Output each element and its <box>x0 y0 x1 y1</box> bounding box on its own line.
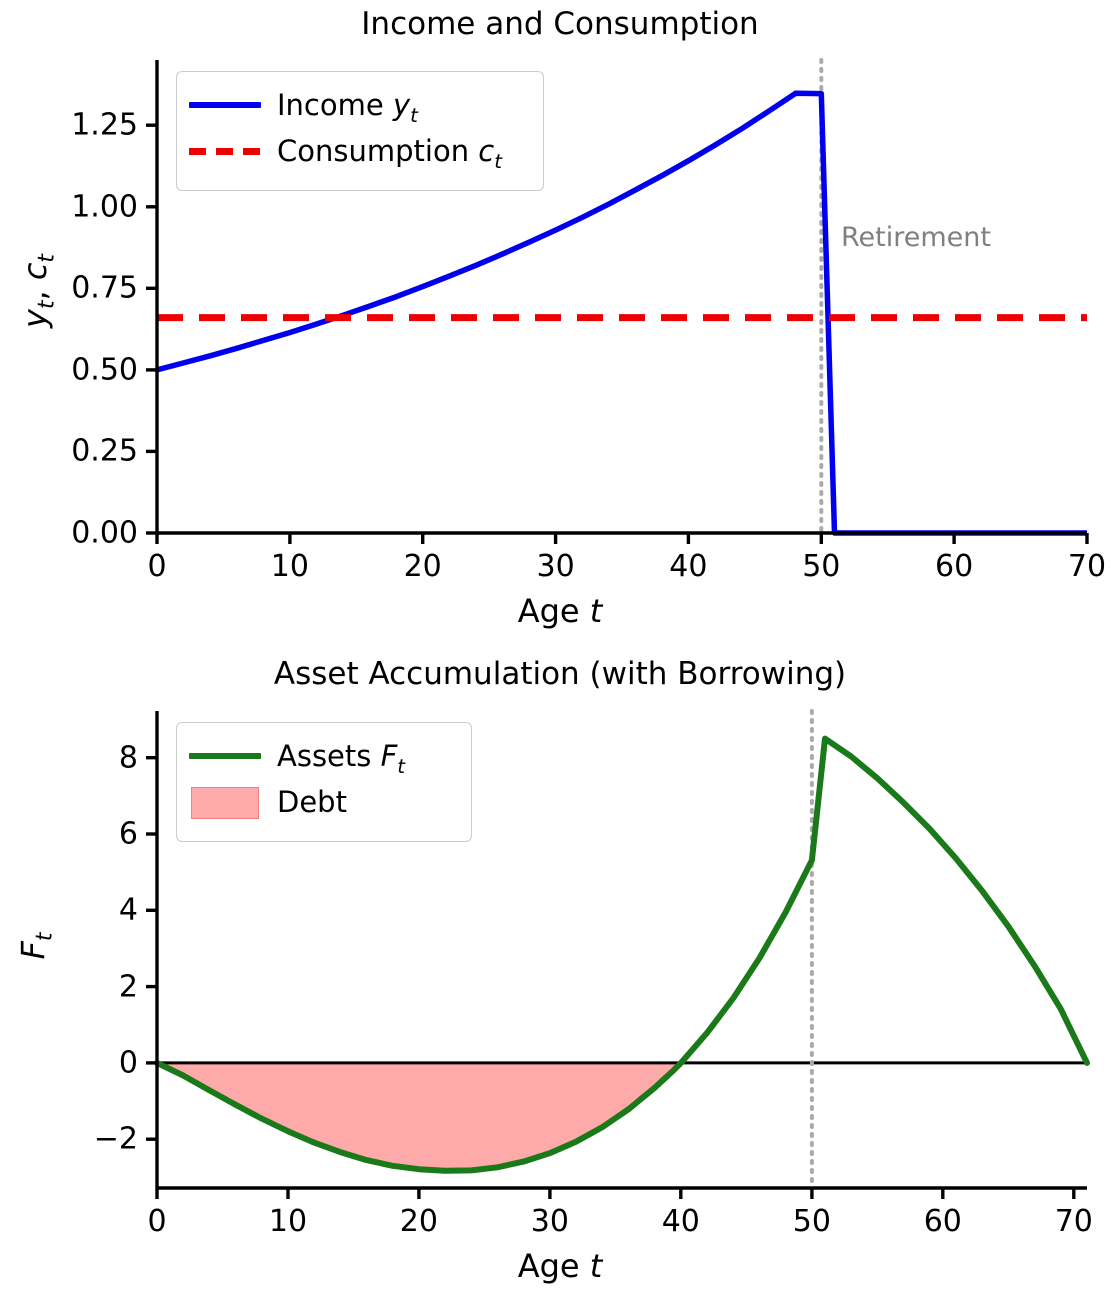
x-tick-label-bottom-0: 0 <box>147 1204 166 1239</box>
x-tick-label-top-6: 60 <box>935 549 973 584</box>
panel-asset-accumulation: Asset Accumulation (with Borrowing) <box>0 650 1120 1308</box>
legend-label-income: Income yt <box>277 91 418 120</box>
x-tick-label-bottom-5: 50 <box>793 1204 831 1239</box>
y-tick-label-bottom-4: 6 <box>20 817 138 852</box>
x-axis-title-bottom-text: Age <box>518 1247 590 1285</box>
legend-item-income[interactable]: Income yt <box>189 82 529 128</box>
x-tick-label-bottom-4: 40 <box>662 1204 700 1239</box>
legend-key-income-line <box>189 91 261 119</box>
figure-root: Income and Consumption <box>0 0 1120 1308</box>
x-axis-title-bottom-var: t <box>590 1247 603 1285</box>
x-tick-label-top-7: 70 <box>1068 549 1106 584</box>
y-tick-label-bottom-1: 0 <box>20 1045 138 1080</box>
legend-label-assets: Assets Ft <box>277 742 405 771</box>
retirement-annotation-label: Retirement <box>841 222 991 253</box>
x-tick-label-top-5: 50 <box>802 549 840 584</box>
x-tick-label-bottom-6: 60 <box>924 1204 962 1239</box>
legend-income-consumption[interactable]: Income yt Consumption ct <box>176 71 544 191</box>
x-tick-label-top-1: 10 <box>271 549 309 584</box>
legend-key-consumption-line <box>189 137 261 165</box>
y-axis-title-top: yt, ct <box>16 211 54 371</box>
y-tick-label-top-1: 0.25 <box>20 434 138 469</box>
x-tick-label-bottom-7: 70 <box>1055 1204 1093 1239</box>
y-tick-label-bottom-5: 8 <box>20 740 138 775</box>
y-tick-label-bottom-0: −2 <box>20 1122 138 1157</box>
x-axis-title-top-text: Age <box>518 592 590 630</box>
legend-item-debt[interactable]: Debt <box>189 779 457 825</box>
y-tick-label-top-0: 0.00 <box>20 516 138 551</box>
x-tick-label-top-3: 30 <box>537 549 575 584</box>
panel-income-consumption: Income and Consumption <box>0 0 1120 650</box>
x-tick-label-top-4: 40 <box>669 549 707 584</box>
legend-label-debt: Debt <box>277 788 347 817</box>
x-axis-title-top: Age t <box>0 592 1120 630</box>
legend-label-consumption: Consumption ct <box>277 137 502 166</box>
legend-item-consumption[interactable]: Consumption ct <box>189 128 529 174</box>
debt-fill-region <box>157 1063 681 1171</box>
x-tick-label-bottom-1: 10 <box>269 1204 307 1239</box>
x-tick-label-top-2: 20 <box>404 549 442 584</box>
y-tick-label-top-5: 1.25 <box>20 108 138 143</box>
x-axis-title-top-var: t <box>590 592 603 630</box>
legend-key-assets-line <box>189 742 261 770</box>
x-tick-label-bottom-3: 30 <box>531 1204 569 1239</box>
x-tick-label-bottom-2: 20 <box>400 1204 438 1239</box>
x-tick-label-top-0: 0 <box>147 549 166 584</box>
legend-key-debt-patch <box>189 788 261 816</box>
y-axis-title-bottom: Ft <box>14 886 52 1006</box>
legend-item-assets[interactable]: Assets Ft <box>189 733 457 779</box>
legend-asset-accumulation[interactable]: Assets Ft Debt <box>176 722 472 842</box>
x-axis-title-bottom: Age t <box>0 1247 1120 1285</box>
